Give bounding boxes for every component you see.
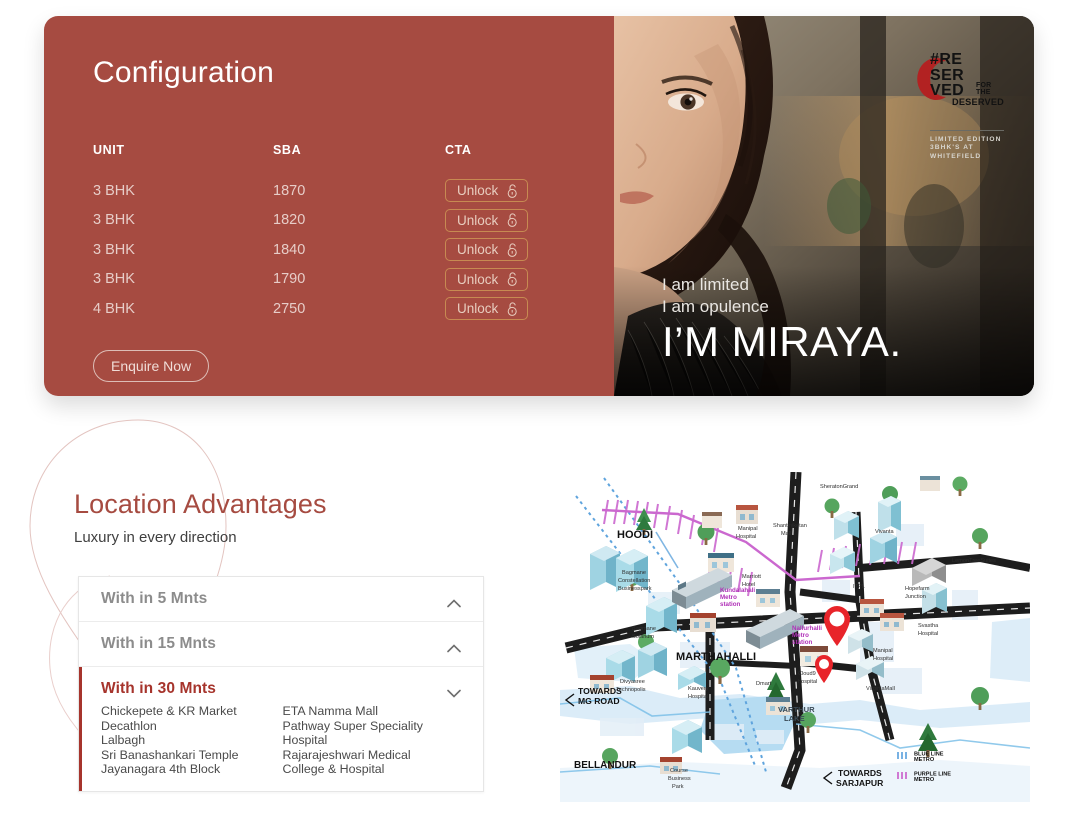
cell-unit: 4 BHK [93,301,273,317]
metro-station-1-l3: station [720,601,741,608]
table-row: 3 BHK 1870 Unlock [93,176,614,206]
unlock-button[interactable]: Unlock [445,209,528,232]
map-towards-sarjapur-line2: SARJAPUR [836,778,884,788]
map-poi: Hospital [873,656,893,662]
cell-sba: 2750 [273,301,445,317]
location-accordion: With in 5 Mnts With in 15 Mnts With in 3… [78,576,484,792]
badge-deserved-text: DESERVED [952,97,1004,107]
chevron-up-icon[interactable] [447,595,461,604]
badge-subtitle: LIMITED EDITION 3BHK'S AT WHITEFIELD [930,136,1018,161]
lock-open-icon [507,213,518,227]
list-item: Lalbagh [101,733,283,748]
location-advantages-header: Location Advantages Luxury in every dire… [74,489,327,546]
badge-divider [930,130,1004,131]
map-towards-sarjapur-line1: TOWARDS [838,768,882,778]
cell-unit: 3 BHK [93,212,273,228]
list-item: Pathway Super Speciality [283,719,465,734]
hero-image: #RE SER VED FOR THE DESERVED LIMITED EDI… [614,16,1034,396]
list-item: Jayanagara 4th Block [101,762,283,777]
hero-line-1: I am limited [662,274,902,296]
map-label-marthahalli: MARTHAHALLI [676,651,756,663]
cell-cta: Unlock [445,209,565,232]
cell-unit: 3 BHK [93,183,273,199]
list-item: Hospital [283,733,465,748]
map-poi: Hospital [736,534,756,540]
map-poi: LemonTreeSuites [952,558,996,564]
accordion-item-5mnts: With in 5 Mnts [79,577,483,622]
section-subtitle: Luxury in every direction [74,529,327,546]
table-row: 4 BHK 2750 Unlock [93,294,614,324]
hero-headline: I’M MIRAYA. [662,320,902,364]
map-poi: Svastha [918,623,939,629]
legend-label: METRO [914,777,935,783]
chevron-down-icon[interactable] [447,685,461,694]
configuration-panel: Configuration UNIT SBA CTA 3 BHK 1870 Un… [44,16,614,396]
table-row: 3 BHK 1840 Unlock [93,235,614,265]
map-poi: Bagmane [632,626,656,632]
map-towards-mg-road-line2: MG ROAD [578,696,620,706]
map-poi: Vivanta [875,529,894,535]
accordion-header-30mnts[interactable]: With in 30 Mnts [82,667,483,704]
unlock-button-label: Unlock [457,183,498,198]
hero-copy: I am limited I am opulence I’M MIRAYA. [662,274,902,364]
metro-station-2-l1: Nallurhalli [792,625,822,632]
map-poi: Cloud9 [798,671,816,677]
metro-station-2-l2: Metro [792,632,809,639]
cell-sba: 1840 [273,242,445,258]
list-item: Rajarajeshwari Medical [283,748,465,763]
configuration-table: UNIT SBA CTA 3 BHK 1870 Unlock [93,134,614,324]
cell-sba: 1790 [273,271,445,287]
map-poi: VirginiaMall [866,686,895,692]
unlock-button[interactable]: Unlock [445,179,528,202]
map-poi: Solarium [632,634,654,640]
map-poi: Hospital [918,631,938,637]
column-header-sba: SBA [273,143,445,157]
cell-unit: 3 BHK [93,271,273,287]
map-poi: Bagmane [622,570,646,576]
list-item: Decathlon [101,719,283,734]
map-poi: Divyasree [620,679,645,685]
map-poi: ITPL [853,584,865,590]
list-item: College & Hospital [283,762,465,777]
metro-station-1-l2: Metro [720,594,737,601]
accordion-header-15mnts[interactable]: With in 15 Mnts [79,622,483,666]
enquire-now-button[interactable]: Enquire Now [93,350,209,382]
unlock-button[interactable]: Unlock [445,238,528,261]
map-poi: Marriott [742,574,761,580]
map-poi: Kauvery [688,686,709,692]
map-poi: Hopefarm [905,586,930,592]
map-poi: Business [668,776,691,782]
unlock-button-label: Unlock [457,213,498,228]
section-title: Location Advantages [74,489,327,520]
map-poi: Technopolis [616,687,646,693]
accordion-label: With in 15 Mnts [101,635,216,653]
accordion-label: With in 5 Mnts [101,590,207,608]
map-label-bellandur: BELLANDUR [574,760,637,771]
unlock-button-label: Unlock [457,272,498,287]
list-item: Chickepete & KR Market [101,704,283,719]
map-poi: Constellation [618,578,650,584]
table-row: 3 BHK 1820 Unlock [93,206,614,236]
column-header-unit: UNIT [93,143,273,157]
accordion-item-15mnts: With in 15 Mnts [79,622,483,667]
legend-label: METRO [914,757,935,763]
map-label-varthur: VARTHUR [778,705,815,714]
map-poi: Mall [781,531,791,537]
map-poi: Junction [905,594,926,600]
accordion-body-30mnts: Chickepete & KR Market Decathlon Lalbagh… [82,704,483,791]
table-row: 3 BHK 1790 Unlock [93,265,614,295]
list-item: ETA Namma Mall [283,704,465,719]
map-poi: Park [672,784,684,790]
map-poi: Shantiniketan [773,523,807,529]
cell-cta: Unlock [445,179,565,202]
chevron-up-icon[interactable] [447,640,461,649]
unlock-button[interactable]: Unlock [445,297,528,320]
unlock-button-label: Unlock [457,242,498,257]
reserved-badge: #RE SER VED FOR THE DESERVED LIMITED EDI… [912,52,1018,161]
page-title: Configuration [93,56,614,90]
cell-unit: 3 BHK [93,242,273,258]
map-canvas: HOODI MARTHAHALLI BELLANDUR TOWARDS MG R… [560,472,1030,802]
accordion-header-5mnts[interactable]: With in 5 Mnts [79,577,483,621]
map-label-hoodi: HOODI [617,529,653,541]
map-poi: Manipal [873,648,893,654]
map-poi: Businesspark [618,586,652,592]
cell-cta: Unlock [445,268,565,291]
cell-sba: 1870 [273,183,445,199]
cell-sba: 1820 [273,212,445,228]
badge-reserved-text: #RE SER VED [930,52,964,99]
cell-cta: Unlock [445,238,565,261]
hero-line-2: I am opulence [662,296,902,318]
map-poi: Hotel [742,582,755,588]
lock-open-icon [507,243,518,257]
location-map[interactable]: HOODI MARTHAHALLI BELLANDUR TOWARDS MG R… [560,472,1030,802]
badge-for-the-text: FOR THE [976,83,991,96]
metro-station-1-l1: Kundalahali [720,587,755,594]
lock-open-icon [507,184,518,198]
table-header-row: UNIT SBA CTA [93,134,614,166]
unlock-button[interactable]: Unlock [445,268,528,291]
map-poi: Hospital [688,694,708,700]
map-poi: SheratonGrand [820,484,858,490]
map-poi: hospital [798,679,817,685]
accordion-list-left: Chickepete & KR Market Decathlon Lalbagh… [101,704,283,777]
map-poi: Dmart [756,681,772,687]
accordion-label: With in 30 Mnts [101,680,216,698]
badge-mark: #RE SER VED FOR THE DESERVED [912,52,1018,124]
map-poi: Manipal [738,526,758,532]
lock-open-icon [507,302,518,316]
map-label-lake: LAKE [784,714,805,723]
list-item: Sri Banashankari Temple [101,748,283,763]
cell-cta: Unlock [445,297,565,320]
accordion-list-right: ETA Namma Mall Pathway Super Speciality … [283,704,465,777]
accordion-item-30mnts: With in 30 Mnts Chickepete & KR Market D… [79,667,483,791]
column-header-cta: CTA [445,143,565,157]
configuration-card: Configuration UNIT SBA CTA 3 BHK 1870 Un… [44,16,1034,396]
unlock-button-label: Unlock [457,301,498,316]
map-poi: Course [670,768,688,774]
metro-station-2-l3: station [792,639,813,646]
lock-open-icon [507,272,518,286]
page-root: Configuration UNIT SBA CTA 3 BHK 1870 Un… [0,0,1081,832]
